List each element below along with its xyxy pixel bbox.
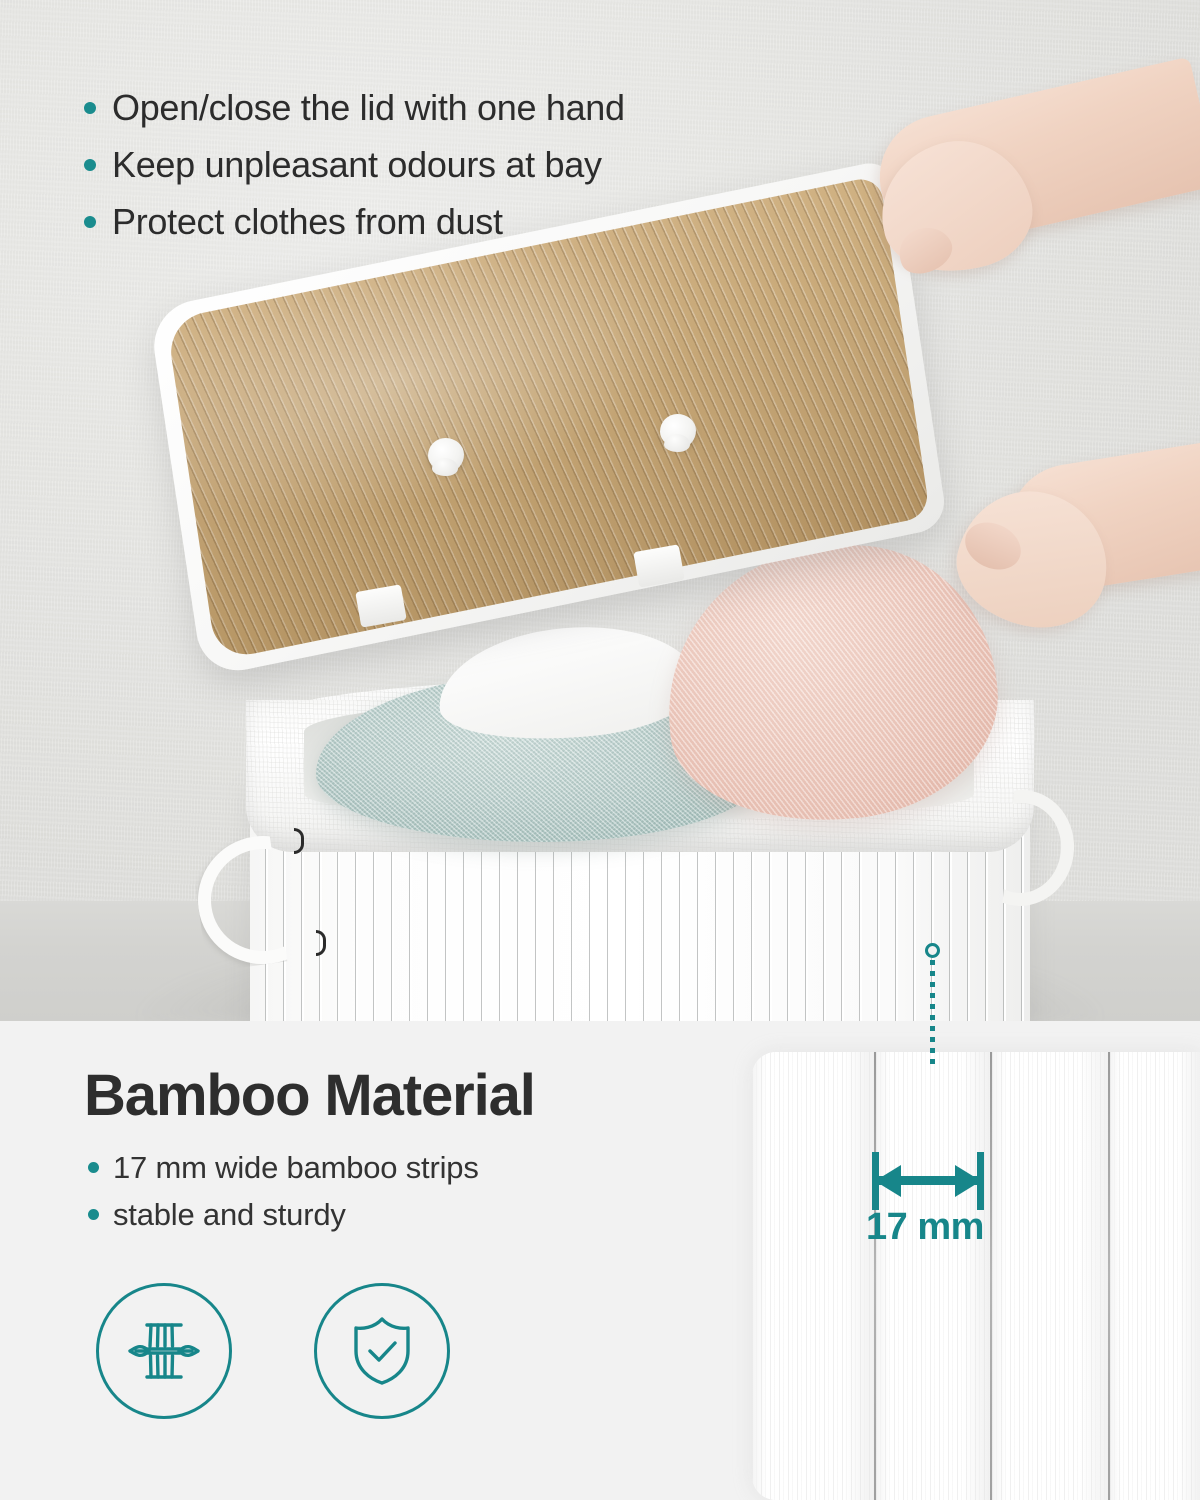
dotted-callout-line-icon [930,960,935,1070]
callout-ring-icon [925,943,940,958]
section-heading: Bamboo Material [84,1062,535,1129]
bullet-text: stable and sturdy [113,1195,346,1235]
feature-icon-row [96,1283,450,1419]
bullet-text: Open/close the lid with one hand [112,84,625,132]
slat-seam [990,1052,992,1500]
bullet-text: Protect clothes from dust [112,198,503,246]
slat [1110,1052,1200,1500]
arrow-right-icon [955,1165,981,1197]
bullet-dot-icon [84,216,96,228]
bamboo-detail-zoom-panel [752,1052,1200,1500]
bullet-dot-icon [88,1209,99,1220]
laundry-hamper [238,640,1038,1021]
slat-seam [874,1052,876,1500]
list-item: stable and sturdy [88,1195,708,1235]
zoom-panel-slats [752,1052,1200,1500]
slat [752,1052,874,1500]
slat [876,1052,990,1500]
product-photo: Open/close the lid with one hand Keep un… [0,0,1200,1021]
slat [992,1052,1108,1500]
list-item: 17 mm wide bamboo strips [88,1148,708,1188]
list-item: Keep unpleasant odours at bay [84,141,844,189]
bullet-dot-icon [84,159,96,171]
bullet-text: 17 mm wide bamboo strips [113,1148,479,1188]
list-item: Open/close the lid with one hand [84,84,844,132]
lid-knot-icon [428,438,464,472]
slat-seam [1108,1052,1110,1500]
bullet-dot-icon [84,102,96,114]
feature-bullet-list-bottom: 17 mm wide bamboo strips stable and stur… [88,1148,708,1242]
bamboo-stalk-icon [96,1283,232,1419]
measurement-label: 17 mm [866,1206,984,1249]
feature-bullet-list-top: Open/close the lid with one hand Keep un… [84,84,844,255]
list-item: Protect clothes from dust [84,198,844,246]
shield-check-icon [314,1283,450,1419]
bullet-dot-icon [88,1162,99,1173]
hamper-lid [150,220,970,640]
bullet-text: Keep unpleasant odours at bay [112,141,602,189]
product-infographic: Open/close the lid with one hand Keep un… [0,0,1200,1500]
arrow-left-icon [875,1165,901,1197]
lid-knot-icon [660,414,696,448]
